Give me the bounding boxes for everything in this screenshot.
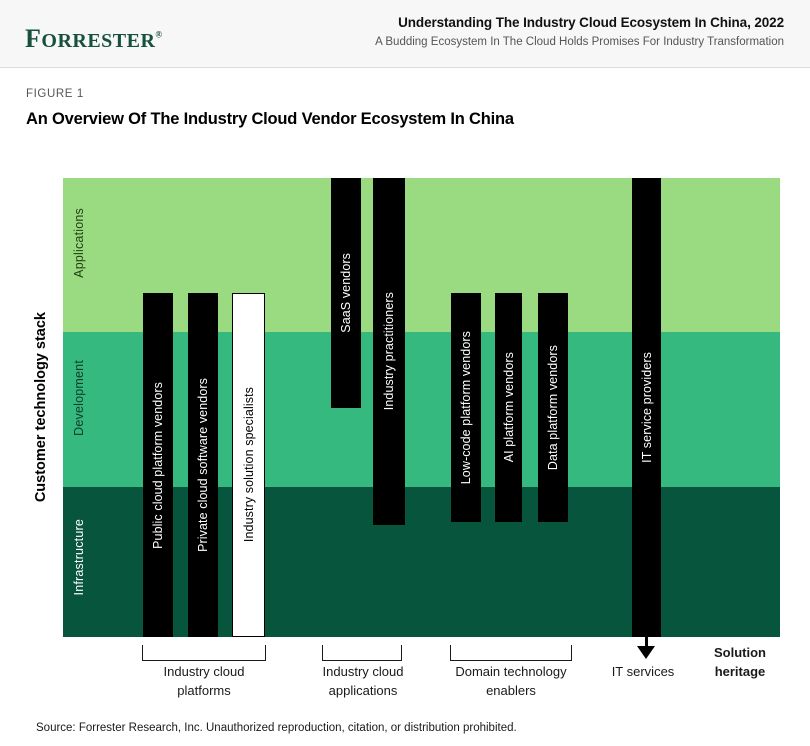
bar-label-ai-platform-vendors: AI platform vendors [502, 352, 516, 462]
bar-data-platform-vendors[interactable]: Data platform vendors [538, 293, 568, 522]
bar-label-data-platform-vendors: Data platform vendors [546, 345, 560, 470]
group-label-line1: IT services [596, 662, 690, 681]
source-note: Source: Forrester Research, Inc. Unautho… [36, 722, 517, 734]
plot-area: Applications Development Infrastructure … [63, 178, 780, 637]
bar-it-service-providers[interactable]: IT service providers [632, 178, 661, 637]
group-label-domain-technology-enablers: Domain technology enablers [431, 662, 591, 700]
bar-saas-vendors[interactable]: SaaS vendors [331, 178, 361, 408]
group-label-line1: Industry cloud [124, 662, 284, 681]
bracket-domain-technology-enablers [450, 645, 572, 661]
bar-label-industry-practitioners: Industry practitioners [382, 292, 396, 410]
group-label-line2: platforms [124, 681, 284, 700]
band-label-applications: Applications [72, 208, 86, 278]
bar-label-public-cloud-platform-vendors: Public cloud platform vendors [151, 382, 165, 549]
group-label-line2: applications [283, 681, 443, 700]
chart-canvas: Customer technology stack Applications D… [0, 0, 810, 746]
bar-industry-practitioners[interactable]: Industry practitioners [373, 178, 405, 525]
x-axis-title-line1: Solution [690, 643, 790, 662]
bar-industry-solution-specialists[interactable]: Industry solution specialists [232, 293, 265, 637]
bar-label-industry-solution-specialists: Industry solution specialists [242, 387, 256, 542]
bracket-industry-cloud-platforms [142, 645, 266, 661]
group-label-line1: Domain technology [431, 662, 591, 681]
x-axis-title-solution-heritage: Solution heritage [690, 643, 790, 681]
group-label-industry-cloud-applications: Industry cloud applications [283, 662, 443, 700]
band-label-development: Development [72, 360, 86, 436]
bar-private-cloud-software-vendors[interactable]: Private cloud software vendors [188, 293, 218, 637]
bar-label-private-cloud-software-vendors: Private cloud software vendors [196, 378, 210, 552]
group-label-industry-cloud-platforms: Industry cloud platforms [124, 662, 284, 700]
it-services-arrow-down-icon [637, 646, 655, 659]
bar-public-cloud-platform-vendors[interactable]: Public cloud platform vendors [143, 293, 173, 637]
y-axis-title: Customer technology stack [28, 178, 54, 637]
bar-label-saas-vendors: SaaS vendors [339, 253, 353, 333]
x-axis-title-line2: heritage [690, 662, 790, 681]
y-axis-title-label: Customer technology stack [33, 312, 49, 502]
group-label-line2: enablers [431, 681, 591, 700]
bar-low-code-platform-vendors[interactable]: Low-code platform vendors [451, 293, 481, 522]
bar-ai-platform-vendors[interactable]: AI platform vendors [495, 293, 522, 522]
group-label-it-services: IT services [596, 662, 690, 681]
bar-label-low-code-platform-vendors: Low-code platform vendors [459, 331, 473, 484]
group-label-line1: Industry cloud [283, 662, 443, 681]
bracket-industry-cloud-applications [322, 645, 402, 661]
band-label-infrastructure: Infrastructure [72, 519, 86, 595]
bar-label-it-service-providers: IT service providers [640, 352, 654, 463]
